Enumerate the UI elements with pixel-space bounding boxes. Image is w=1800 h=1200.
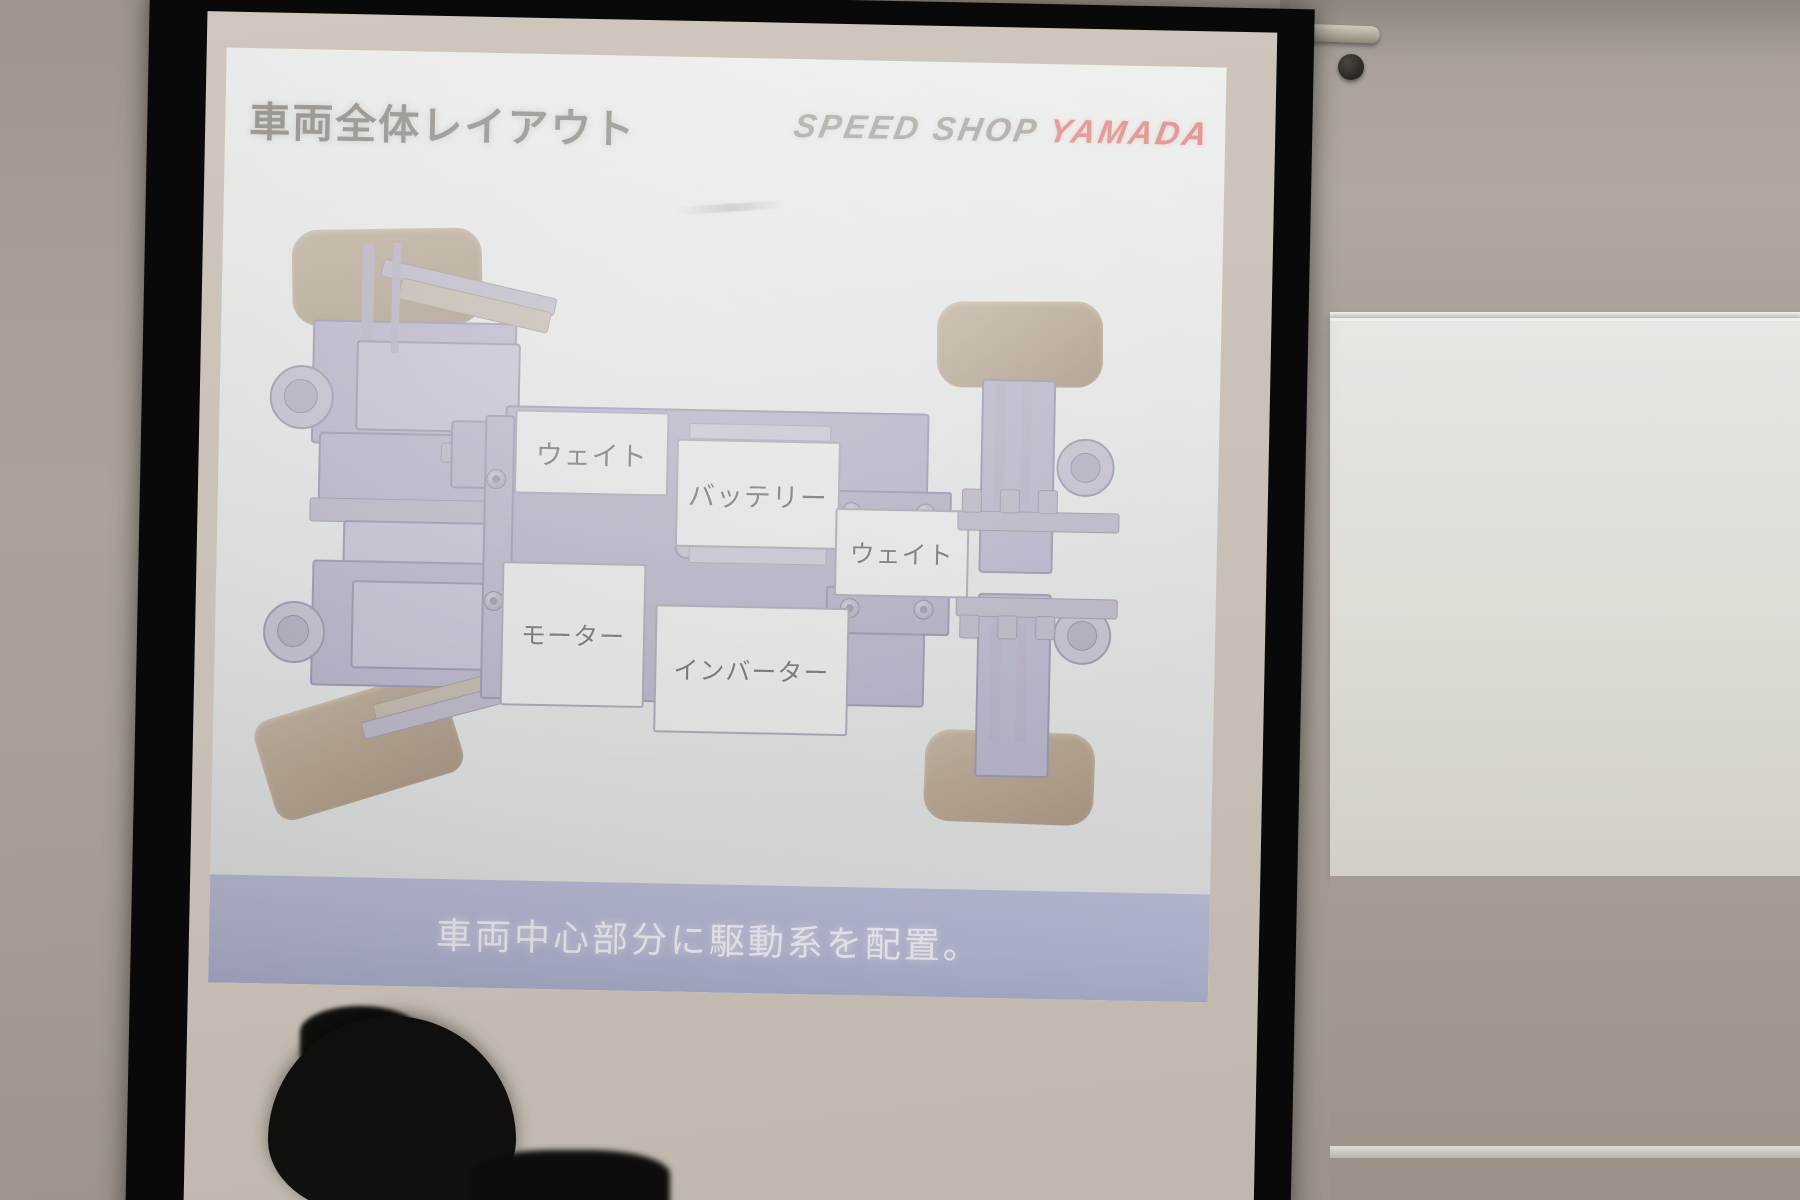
bracket-fr-2 [1000,489,1020,513]
bracket-fr-3 [1038,490,1058,514]
component-label: バッテリー [688,473,829,515]
logo-accent-text: YAMADA [1046,112,1213,152]
brand-logo: SPEED SHOP YAMADA [791,107,1213,153]
component-weight-right: ウェイト [834,508,970,599]
component-label: インバーター [673,651,830,690]
wall-trim [1330,1146,1800,1158]
projection-screen-frame: 車両全体レイアウト SPEED SHOP YAMADA [125,0,1315,1200]
whiteboard [1330,318,1800,881]
component-inverter: インバーター [653,604,850,736]
component-motor: モーター [500,561,647,708]
crossmember-fr [957,510,1119,533]
slide-caption-band: 車両中心部分に駆動系を配置。 [208,874,1210,1002]
component-label: モーター [521,616,626,654]
roller-end-cap-icon [1338,54,1364,80]
bracket-rr-3 [1035,616,1055,640]
slide-caption-text: 車両中心部分に駆動系を配置。 [436,907,983,970]
bracket-rr-1 [959,614,979,638]
projected-slide: 車両全体レイアウト SPEED SHOP YAMADA [208,48,1227,1003]
page-title: 車両全体レイアウト [249,88,637,156]
photo-scene: 車両全体レイアウト SPEED SHOP YAMADA [0,0,1800,1200]
strut-fl [361,244,375,340]
component-label: ウェイト [849,534,954,572]
component-weight-left: ウェイト [514,409,670,496]
audience-shoulder-silhouette [470,1150,670,1200]
suspension-upright-fr [978,379,1056,574]
tire-front-right [937,301,1103,387]
bracket-rr-2 [997,615,1017,639]
component-battery: バッテリー [675,439,841,550]
bracket-fr-1 [962,488,982,512]
logo-primary-text: SPEED SHOP [791,107,1041,149]
chassis-diagram: ウェイト バッテリー モーター インバーター ウェイト [251,178,1194,877]
component-label: ウェイト [535,432,648,473]
